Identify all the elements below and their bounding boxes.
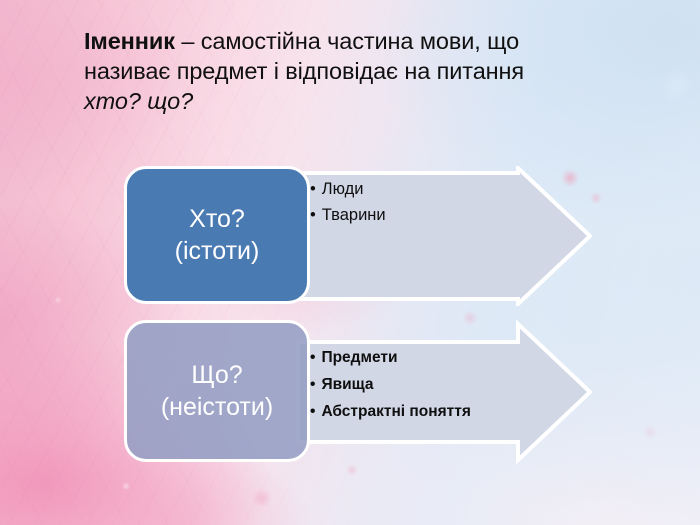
bullet-list-neistoty: Предмети Явища Абстрактні поняття [310,344,560,425]
label-box-istoty-text: Хто? (істоти) [127,203,307,267]
label-line-secondary: (неістоти) [127,391,307,423]
label-line-primary: Хто? [127,203,307,235]
list-item: Люди [310,176,560,202]
label-line-secondary: (істоти) [127,235,307,267]
list-item: Предмети [310,344,560,371]
title-line-2: називає предмет і відповідає на питання [84,56,640,86]
label-box-neistoty[interactable]: Що? (неістоти) [124,320,310,462]
title-line-1: Іменник – самостійна частина мови, що [84,26,640,56]
label-box-neistoty-text: Що? (неістоти) [127,359,307,423]
title-keyword: Іменник [84,28,175,54]
label-box-istoty[interactable]: Хто? (істоти) [124,166,310,304]
slide-canvas: Іменник – самостійна частина мови, що на… [0,0,700,525]
slide-title: Іменник – самостійна частина мови, що на… [84,26,640,116]
label-line-primary: Що? [127,359,307,391]
bullet-list-istoty: Люди Тварини [310,176,560,228]
list-item: Абстрактні поняття [310,398,560,425]
list-item: Тварини [310,202,560,228]
title-line-3-questions: хто? що? [84,86,640,116]
title-line-1-rest: – самостійна частина мови, що [175,28,519,54]
list-item: Явища [310,371,560,398]
